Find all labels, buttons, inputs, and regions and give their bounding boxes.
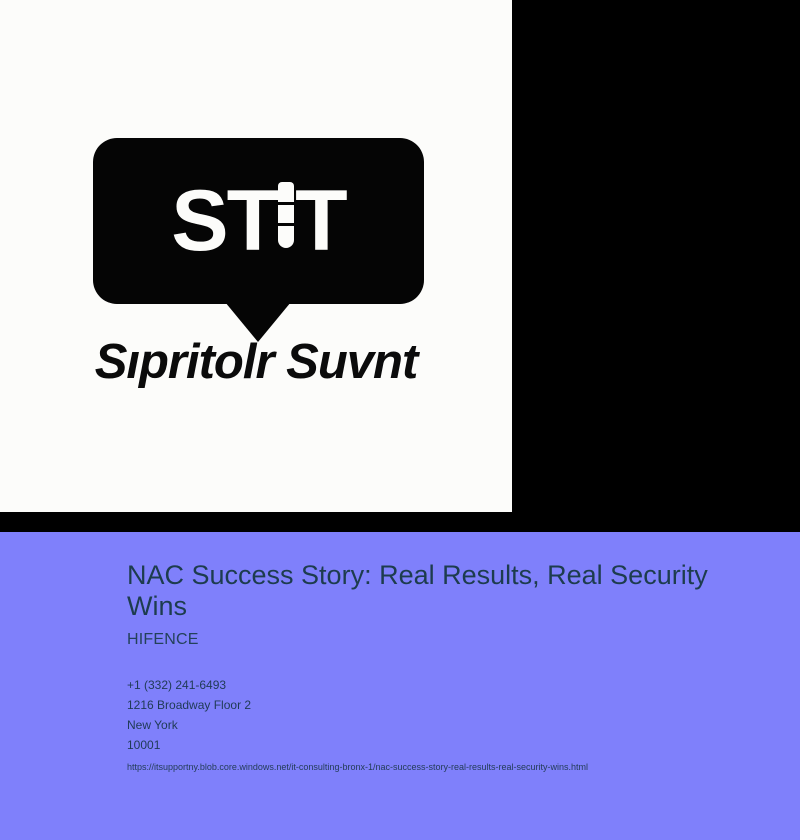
info-band: NAC Success Story: Real Results, Real Se… [0,532,800,840]
contact-city: New York [127,715,776,735]
logo-panel: ST T Sıpritolr Suvnt [0,0,512,512]
contact-phone: +1 (332) 241-6493 [127,675,776,695]
info-content: NAC Success Story: Real Results, Real Se… [127,560,776,774]
contact-street: 1216 Broadway Floor 2 [127,695,776,715]
contact-block: +1 (332) 241-6493 1216 Broadway Floor 2 … [127,675,776,755]
source-url[interactable]: https://itsupportny.blob.core.windows.ne… [127,761,776,774]
wordmark-group: ST T [171,178,345,264]
wordmark-right-text: T [295,178,346,264]
page-root: ST T Sıpritolr Suvnt NAC Success Story: … [0,0,800,840]
logo-tagline: Sıpritolr Suvnt [0,334,512,390]
segmented-bar-icon [278,182,294,248]
brand-subtitle: HIFENCE [127,631,776,649]
logo-wordmark: ST T [93,138,424,304]
wordmark-left-text: ST [171,178,277,264]
page-title: NAC Success Story: Real Results, Real Se… [127,560,717,622]
contact-zip: 10001 [127,735,776,755]
